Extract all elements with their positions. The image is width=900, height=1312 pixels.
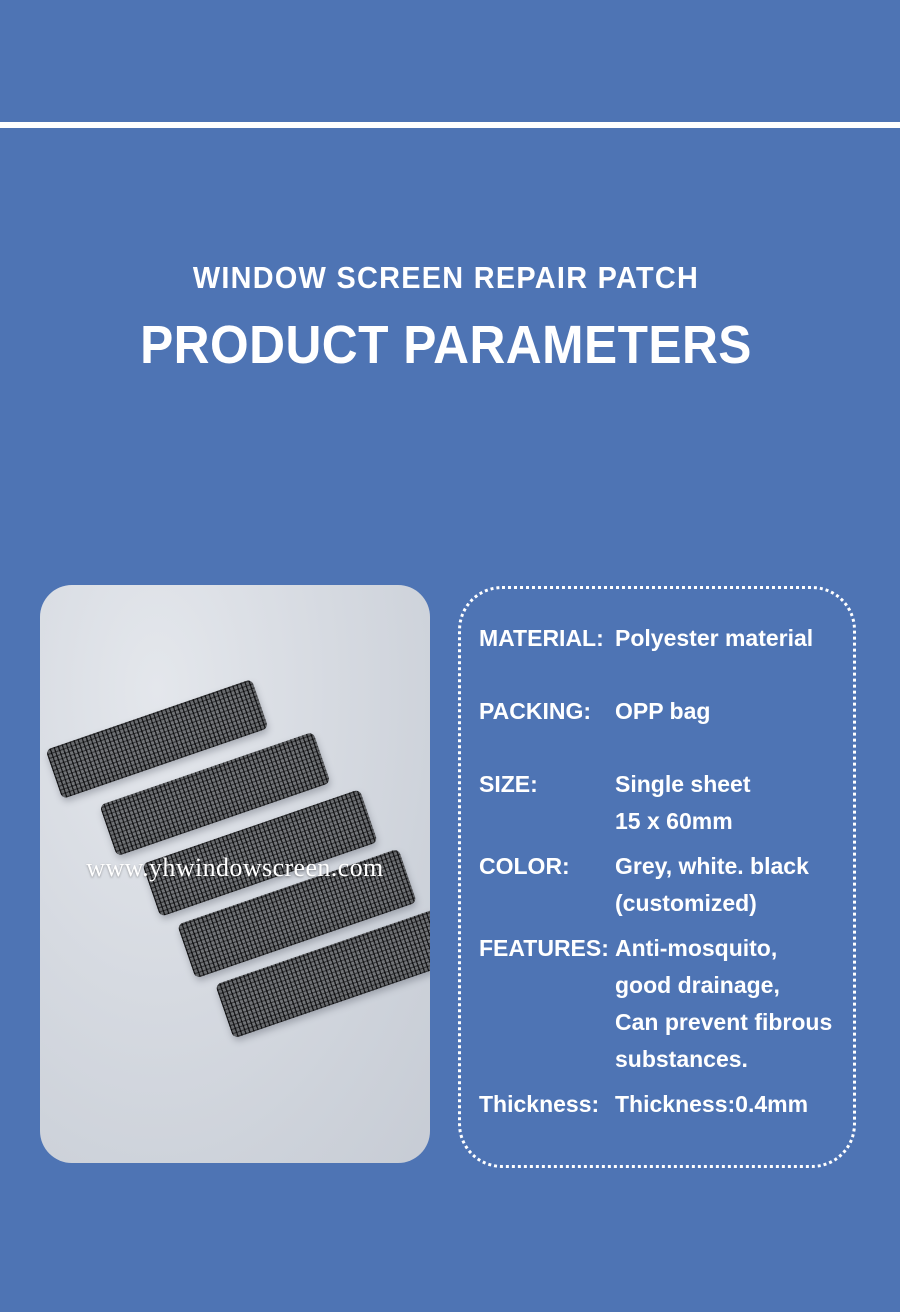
watermark-text: www.yhwindowscreen.com [40,853,430,883]
spec-value-line: Thickness:0.4mm [615,1093,849,1116]
spec-label: FEATURES: [479,937,615,960]
spec-row-thickness: Thickness: Thickness:0.4mm [479,1093,849,1116]
spec-value-line: 15 x 60mm [615,810,849,833]
spec-value: Polyester material [615,627,849,650]
spec-row-features: FEATURES: Anti-mosquito, good drainage, … [479,937,849,1071]
spec-value-line: substances. [615,1048,849,1071]
spec-value: Anti-mosquito, good drainage, Can preven… [615,937,849,1071]
spec-row-color: COLOR: Grey, white. black (customized) [479,855,849,915]
spec-label: PACKING: [479,700,615,723]
spec-value: Single sheet 15 x 60mm [615,773,849,833]
spec-value-line: (customized) [615,892,849,915]
page-title: PRODUCT PARAMETERS [36,317,857,374]
spec-row-size: SIZE: Single sheet 15 x 60mm [479,773,849,833]
heading-block: WINDOW SCREEN REPAIR PATCH PRODUCT PARAM… [0,262,892,374]
spacer [479,723,849,773]
spec-value-line: OPP bag [615,700,849,723]
spec-value: Grey, white. black (customized) [615,855,849,915]
spec-row-packing: PACKING: OPP bag [479,700,849,723]
spec-value-line: Anti-mosquito, [615,937,849,960]
spec-row-material: MATERIAL: Polyester material [479,627,849,650]
top-divider-line [0,122,900,128]
spec-value-line: good drainage, [615,974,849,997]
spec-label: MATERIAL: [479,627,615,650]
spec-label: SIZE: [479,773,615,796]
spec-value-line: Can prevent fibrous [615,1011,849,1034]
spec-value-line: Grey, white. black [615,855,849,878]
spacer [479,650,849,700]
spec-label: COLOR: [479,855,615,878]
spec-value-line: Single sheet [615,773,849,796]
spec-label: Thickness: [479,1093,615,1116]
spec-value: OPP bag [615,700,849,723]
spec-list: MATERIAL: Polyester material PACKING: OP… [479,627,849,1116]
page-eyebrow: WINDOW SCREEN REPAIR PATCH [31,262,861,293]
spec-value-line: Polyester material [615,627,849,650]
spec-panel: MATERIAL: Polyester material PACKING: OP… [458,586,856,1168]
product-photo: www.yhwindowscreen.com [40,585,430,1163]
spec-value: Thickness:0.4mm [615,1093,849,1116]
